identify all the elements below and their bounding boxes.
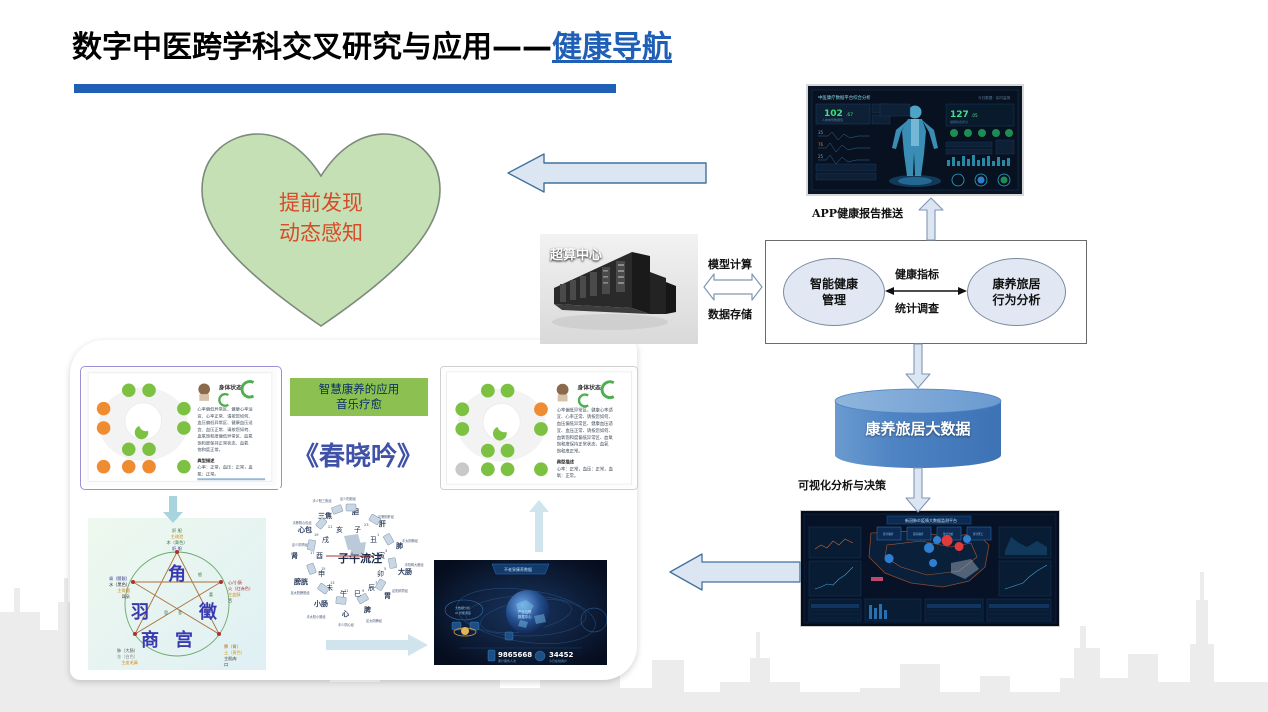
svg-text:土（黄色）: 土（黄色） — [224, 649, 245, 656]
svg-text:11: 11 — [344, 589, 349, 593]
arrow-bigdata-to-map — [903, 466, 933, 514]
ziwu-liuzhu-clock-diagram: 子午流注 胆肝 肺大肠 胃脾 心小肠 膀胱肾 心包三焦 子丑 寅卯 辰巳 午未 … — [278, 488, 438, 628]
svg-text:足少阴肾经: 足少阴肾经 — [292, 542, 309, 547]
arrow-between-nodes-bidirectional — [884, 283, 968, 299]
svg-text:氧：正常。: 氧：正常。 — [557, 472, 579, 479]
svg-text:17: 17 — [310, 551, 315, 555]
svg-text:21: 21 — [328, 525, 333, 529]
svg-text:35: 35 — [818, 130, 824, 135]
svg-text:寅: 寅 — [378, 551, 385, 560]
svg-text:健康综合评分: 健康综合评分 — [950, 119, 968, 124]
svg-text:23: 23 — [364, 523, 369, 527]
svg-text:宫: 宫 — [175, 629, 193, 651]
svg-text:酉: 酉 — [316, 552, 323, 560]
node-wellness-travel-behavior-analysis[interactable]: 康养旅居 行为分析 — [967, 258, 1066, 326]
node-smart-health-management-line2: 管理 — [810, 292, 858, 308]
svg-text:心率偏低异常区、健康心率适: 心率偏低异常区、健康心率适 — [197, 406, 253, 413]
svg-text:宜、心率正常、请按您如何、: 宜、心率正常、请按您如何、 — [197, 412, 252, 419]
svg-text:大数据分析: 大数据分析 — [455, 605, 470, 610]
svg-text:9865668: 9865668 — [498, 651, 532, 659]
svg-text:3: 3 — [385, 549, 387, 553]
svg-text:血压偏低异常区、健康血压适: 血压偏低异常区、健康血压适 — [557, 420, 614, 427]
svg-text:膀胱: 膀胱 — [293, 577, 308, 586]
svg-text:数据中心: 数据中心 — [518, 614, 532, 619]
svg-text:心率：正常，血压：正常，血: 心率：正常，血压：正常，血 — [197, 464, 253, 471]
arrow-dashboard-to-heart — [504, 152, 710, 194]
svg-text:足少阳胆经: 足少阳胆经 — [340, 496, 357, 501]
svg-text:今日数据 · 实时监测: 今日数据 · 实时监测 — [978, 95, 1011, 100]
svg-text:主血脉: 主血脉 — [228, 591, 241, 597]
svg-text:徵: 徵 — [198, 601, 218, 623]
svg-text:现存确诊: 现存确诊 — [913, 532, 924, 536]
svg-text:血氧饱和度偏低异常区、血氧: 血氧饱和度偏低异常区、血氧 — [557, 434, 614, 441]
supercomputer-label: 超算中心 — [550, 244, 602, 263]
svg-text:思: 思 — [164, 610, 168, 615]
svg-text:手太阳小肠经: 手太阳小肠经 — [306, 614, 326, 619]
arrow-flow-to-bigdata — [903, 342, 933, 390]
svg-text:中医康疗数据平台综合分析: 中医康疗数据平台综合分析 — [818, 94, 871, 101]
svg-text:宜、心率正常、请按您如何、: 宜、心率正常、请按您如何、 — [557, 413, 613, 420]
svg-text:13: 13 — [330, 581, 335, 585]
health-dashboard-screenshot: 中医康疗数据平台综合分析 今日数据 · 实时监测 102 .67 人体电导数据值… — [806, 84, 1024, 196]
svg-text:AI 智能调度: AI 智能调度 — [455, 610, 471, 615]
label-statistical-survey: 统计调查 — [895, 300, 939, 316]
svg-text:饱和度正常。: 饱和度正常。 — [557, 448, 583, 455]
svg-text:手阳明大肠经: 手阳明大肠经 — [404, 562, 424, 567]
heart-caption-line1: 提前发现 — [196, 188, 446, 218]
svg-text:木（青色）: 木（青色） — [167, 539, 188, 546]
label-data-storage: 数据存储 — [708, 306, 752, 322]
svg-text:手少阳三焦经: 手少阳三焦经 — [312, 498, 332, 503]
svg-text:戌: 戌 — [322, 535, 329, 544]
svg-text:丑: 丑 — [370, 536, 377, 544]
arrow-map-to-panel — [666, 552, 804, 592]
svg-text:卯: 卯 — [377, 569, 384, 578]
svg-text:氧：正常。: 氧：正常。 — [197, 470, 218, 477]
svg-text:19: 19 — [314, 533, 319, 537]
svg-text:15: 15 — [321, 567, 326, 571]
svg-text:主肌肉: 主肌肉 — [224, 655, 237, 662]
svg-text:76: 76 — [818, 142, 824, 147]
svg-text:小肠: 小肠 — [313, 599, 328, 608]
svg-text:5: 5 — [384, 567, 386, 571]
music-therapy-banner: 智慧康养的应用 音乐疗愈 — [290, 378, 428, 416]
svg-text:产业互联: 产业互联 — [518, 609, 532, 614]
svg-text:饱和度保持正常状态、血氧: 饱和度保持正常状态、血氧 — [197, 439, 249, 446]
label-health-indicator: 健康指标 — [895, 266, 939, 282]
svg-text:饱和度正常。: 饱和度正常。 — [197, 446, 223, 453]
svg-text:三焦: 三焦 — [318, 511, 332, 520]
svg-text:身体状态: 身体状态 — [219, 383, 242, 391]
svg-text:悲: 悲 — [178, 609, 182, 615]
svg-text:.67: .67 — [846, 112, 853, 118]
health-app-card-right: 身体状态 心率偏低异常区、健康心率适 宜、心率正常、请按您如何、 血压偏低异常区… — [440, 366, 638, 490]
node-wellness-line2: 行为分析 — [992, 292, 1040, 308]
svg-text:足阳明胃经: 足阳明胃经 — [392, 588, 409, 593]
svg-text:心包: 心包 — [298, 525, 312, 534]
svg-text:典型描述: 典型描述 — [557, 458, 575, 465]
five-elements-music-diagram: 角 徵 宫 商 羽 肝 胆 主疏泄 木（青色） 肝 胆 心/小肠 火（红赤色） … — [88, 518, 266, 670]
svg-text:人体电导数据值: 人体电导数据值 — [822, 117, 843, 122]
svg-text:主疏泄: 主疏泄 — [171, 533, 184, 540]
svg-text:水（黑色）: 水（黑色） — [109, 581, 130, 588]
svg-text:今日在线用户: 今日在线用户 — [549, 658, 567, 663]
arrow-wuxing-to-space — [326, 632, 430, 658]
svg-text:怒: 怒 — [198, 571, 202, 577]
svg-text:手少阴心经: 手少阴心经 — [338, 622, 355, 627]
banner-line1: 智慧康养的应用 — [319, 382, 400, 397]
svg-text:不老泉康养数据: 不老泉康养数据 — [504, 566, 532, 572]
svg-text:1: 1 — [377, 533, 379, 537]
svg-text:脾: 脾 — [363, 605, 371, 614]
page-title-accent: 健康导航 — [552, 30, 672, 65]
arrow-app-push-up — [916, 196, 946, 242]
svg-text:辰: 辰 — [368, 584, 375, 592]
arrow-model-data-bidirectional — [702, 272, 764, 302]
svg-text:口: 口 — [224, 662, 228, 667]
svg-text:饱和度保持正常状态、血氧: 饱和度保持正常状态、血氧 — [557, 441, 609, 448]
svg-text:子: 子 — [354, 526, 361, 534]
node-smart-health-management[interactable]: 智能健康 管理 — [783, 258, 885, 326]
wellness-space-dashboard-screenshot: 不老泉康养数据 产业互联 数据中心 大数据分析 AI 智能调度 — [434, 560, 607, 665]
label-model-calculation: 模型计算 — [708, 256, 752, 272]
svg-text:宜、血压正常、请按您如何、: 宜、血压正常、请按您如何、 — [197, 426, 252, 433]
svg-text:心/小肠: 心/小肠 — [228, 579, 242, 586]
svg-text:商: 商 — [141, 629, 159, 651]
svg-text:胃: 胃 — [384, 591, 391, 600]
svg-text:舌: 舌 — [228, 597, 232, 604]
arrow-card-to-wuxing — [162, 494, 184, 524]
node-smart-health-management-line1: 智能健康 — [810, 276, 858, 292]
svg-text:累计确诊: 累计确诊 — [883, 532, 894, 536]
song-title: 《春晓吟》 — [278, 436, 438, 473]
svg-text:127: 127 — [950, 110, 969, 120]
arrow-space-to-card — [528, 498, 550, 554]
svg-text:喜: 喜 — [209, 591, 213, 597]
svg-text:主皮毛鼻: 主皮毛鼻 — [121, 659, 138, 666]
svg-text:34452: 34452 — [549, 651, 573, 659]
svg-text:累计服务人次: 累计服务人次 — [498, 658, 516, 663]
svg-text:大肠: 大肠 — [398, 567, 412, 576]
page-title-main: 数字中医跨学科交叉研究与应用—— — [72, 30, 552, 65]
label-visual-analysis-decision: 可视化分析与决策 — [798, 477, 886, 493]
svg-text:足太阴脾经: 足太阴脾经 — [366, 618, 383, 623]
title-underline-bar — [74, 84, 616, 93]
svg-text:肺（大肠）: 肺（大肠） — [117, 647, 138, 654]
page-title: 数字中医跨学科交叉研究与应用——健康导航 — [72, 22, 672, 66]
banner-line2: 音乐疗愈 — [336, 397, 382, 412]
svg-text:手太阴肺经: 手太阴肺经 — [402, 538, 419, 543]
node-wellness-line1: 康养旅居 — [992, 276, 1040, 292]
epidemic-map-dashboard-screenshot: 新冠肺炎疫情大数据监测平台 — [800, 510, 1060, 627]
heart-caption: 提前发现 动态感知 — [196, 188, 446, 248]
svg-text:足太阳膀胱经: 足太阳膀胱经 — [290, 590, 310, 595]
supercomputer-center-photo: 超算中心 — [540, 234, 698, 344]
svg-text:亥: 亥 — [336, 525, 343, 534]
svg-text:主骨髓: 主骨髓 — [117, 587, 130, 594]
svg-text:脾（胃）: 脾（胃） — [224, 643, 241, 650]
svg-text:手厥阴心包经: 手厥阴心包经 — [292, 520, 312, 525]
svg-text:火（红赤色）: 火（红赤色） — [228, 585, 253, 591]
label-app-health-report-push: APP健康报告推送 — [812, 205, 903, 221]
slide-canvas: 数字中医跨学科交叉研究与应用——健康导航 提前发现 动态感知 中医康疗数据平台综… — [0, 0, 1268, 712]
svg-text:心率：正常，血压：正常，血: 心率：正常，血压：正常，血 — [557, 465, 614, 472]
health-app-card-left: 身体状态 心率偏低异常区、健康心率适 宜、心率正常、请按您如何、 血压偏低异常区… — [80, 366, 282, 490]
svg-text:心率偏低异常区、健康心率适: 心率偏低异常区、健康心率适 — [557, 406, 614, 413]
svg-text:角: 角 — [168, 563, 186, 585]
svg-text:25: 25 — [818, 154, 824, 159]
svg-text:血氧饱和度偏低异常区、血氧: 血氧饱和度偏低异常区、血氧 — [197, 433, 253, 440]
svg-text:身体状态: 身体状态 — [577, 384, 601, 392]
svg-text:肾: 肾 — [291, 551, 298, 560]
svg-text:典型描述: 典型描述 — [197, 457, 215, 464]
svg-text:宜、血压正常、请按您如何、: 宜、血压正常、请按您如何、 — [557, 427, 613, 434]
svg-text:羽: 羽 — [131, 602, 149, 623]
svg-text:金（白色）: 金（白色） — [117, 653, 138, 660]
svg-text:心: 心 — [342, 609, 349, 618]
svg-text:肾（膀胱）: 肾（膀胱） — [109, 575, 130, 582]
bigdata-cylinder-label: 康养旅居大数据 — [833, 418, 1003, 439]
svg-text:累计死亡: 累计死亡 — [973, 532, 984, 536]
svg-text:足厥阴肝经: 足厥阴肝经 — [378, 514, 395, 519]
heart-caption-line2: 动态感知 — [196, 218, 446, 248]
svg-text:血压偏低异常区、健康血压适: 血压偏低异常区、健康血压适 — [197, 419, 253, 426]
svg-text:新冠肺炎疫情大数据监测平台: 新冠肺炎疫情大数据监测平台 — [905, 517, 957, 523]
svg-text:.05: .05 — [971, 113, 978, 118]
